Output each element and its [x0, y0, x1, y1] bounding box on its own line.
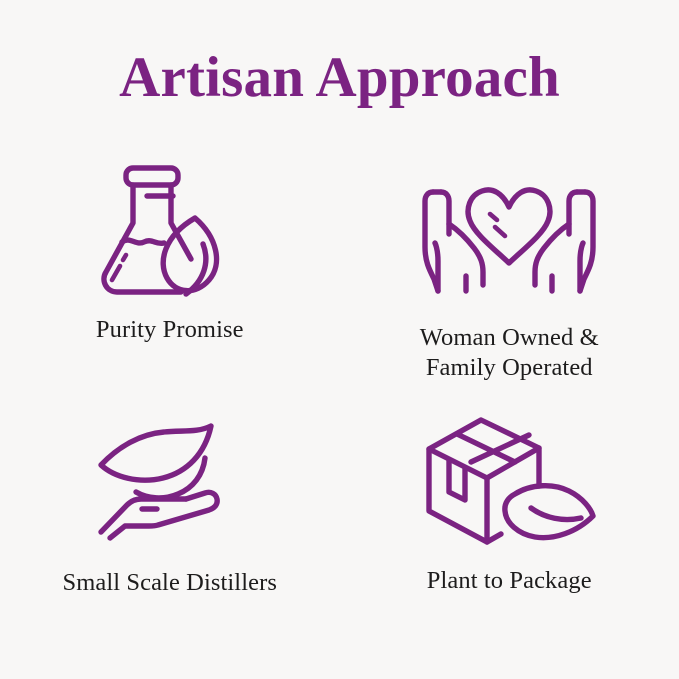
artisan-approach-graphic: Artisan Approach: [0, 0, 679, 679]
page-title: Artisan Approach: [0, 45, 679, 111]
feature-label: Small Scale Distillers: [62, 568, 277, 598]
hands-heart-icon: [419, 162, 599, 307]
box-leaf-icon: [419, 416, 599, 544]
feature-item-plant-to-package: Plant to Package: [340, 400, 679, 650]
feature-grid: Purity Promise: [0, 150, 679, 650]
feature-item-small-scale-distillers: Small Scale Distillers: [0, 400, 340, 650]
feature-item-purity-promise: Purity Promise: [0, 150, 340, 400]
feature-label: Woman Owned & Family Operated: [420, 323, 599, 383]
feature-label: Purity Promise: [96, 315, 244, 345]
flask-leaf-icon: [95, 156, 245, 301]
hand-leaf-icon: [95, 422, 245, 542]
feature-label: Plant to Package: [427, 566, 592, 596]
feature-item-woman-owned: Woman Owned & Family Operated: [340, 150, 679, 400]
